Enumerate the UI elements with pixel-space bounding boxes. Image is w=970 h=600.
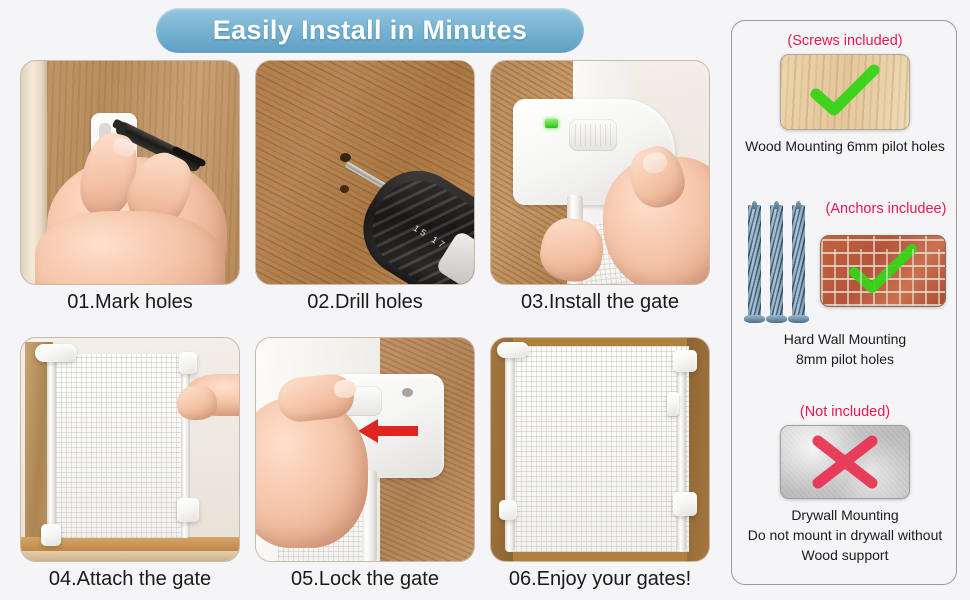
top-housing — [35, 344, 77, 362]
step-photo-attach-gate — [20, 337, 240, 562]
step-caption-06: 06.Enjoy your gates! — [490, 568, 710, 591]
right-gate-pole — [677, 356, 686, 552]
wood-surface-swatch — [780, 54, 910, 130]
left-gate-pole — [505, 346, 515, 552]
bottom-bracket-left — [41, 524, 61, 546]
latch-tab — [667, 392, 679, 416]
step-photo-lock-gate — [255, 337, 475, 562]
bracket-bottom-left — [499, 500, 517, 520]
step-card-03: 03.Install the gate — [490, 60, 710, 314]
gate-mesh-panel — [511, 346, 689, 552]
bracket-top-right — [673, 350, 697, 372]
install-steps-grid: 01.Mark holes 15 17 19 02.Drill holes — [20, 60, 720, 590]
thumbnail — [334, 380, 356, 398]
screw-2 — [770, 205, 783, 317]
drywall-surface-swatch — [780, 425, 910, 499]
drywall-caption-line-3: Wood support — [732, 546, 958, 565]
screws-illustration — [746, 205, 812, 323]
step-photo-install-gate — [490, 60, 710, 285]
green-check-icon — [846, 244, 920, 298]
red-cross-icon — [810, 435, 880, 489]
step-photo-drill-holes: 15 17 19 — [255, 60, 475, 285]
not-included-note: (Not included) — [732, 404, 958, 420]
mounting-options-panel: (Screws included) Wood Mounting 6mm pilo… — [731, 20, 957, 585]
hardwall-mounting-caption-line-2: 8mm pilot holes — [732, 350, 958, 369]
step-card-02: 15 17 19 02.Drill holes — [255, 60, 475, 314]
gate-mesh-panel — [51, 354, 187, 538]
step-caption-01: 01.Mark holes — [20, 291, 240, 314]
wood-mounting-caption: Wood Mounting 6mm pilot holes — [732, 137, 958, 156]
right-bracket-bottom — [177, 498, 199, 522]
mounting-option-wood: (Screws included) Wood Mounting 6mm pilo… — [732, 33, 958, 156]
mounting-option-drywall: (Not included) Drywall Mounting Do not m… — [732, 404, 958, 565]
drywall-caption-line-2: Do not mount in drywall without — [732, 526, 958, 545]
step-caption-05: 05.Lock the gate — [255, 568, 475, 591]
step-card-04: 04.Attach the gate — [20, 337, 240, 591]
screw-1 — [748, 205, 761, 317]
step-caption-02: 02.Drill holes — [255, 291, 475, 314]
bracket-bottom-right — [673, 492, 697, 516]
drywall-caption-line-1: Drywall Mounting — [732, 506, 958, 525]
right-bracket-top — [179, 352, 197, 374]
status-indicator-led — [545, 119, 558, 128]
wood-included-note: (Screws included) — [732, 33, 958, 49]
page-title-banner: Easily Install in Minutes — [156, 8, 584, 53]
step-photo-finished-gate — [490, 337, 710, 562]
top-housing — [497, 342, 529, 358]
screw-3 — [792, 205, 805, 317]
step-caption-03: 03.Install the gate — [490, 291, 710, 314]
pilot-hole-lower — [340, 185, 349, 193]
step-card-05: 05.Lock the gate — [255, 337, 475, 591]
left-gate-pole — [47, 352, 56, 542]
latch-screw-hole — [402, 388, 413, 397]
green-check-icon — [808, 64, 882, 120]
mounting-option-hardwall: (Anchors includee) Hard Wall Mounting 8m… — [732, 199, 958, 369]
hardwall-mounting-caption-line-1: Hard Wall Mounting — [732, 330, 958, 349]
button-ribs — [575, 124, 611, 146]
pilot-hole-upper — [340, 153, 351, 162]
step-card-06: 06.Enjoy your gates! — [490, 337, 710, 591]
step-caption-04: 04.Attach the gate — [20, 568, 240, 591]
floor — [21, 551, 239, 561]
direction-arrow-icon — [356, 416, 420, 446]
brick-surface-swatch — [820, 235, 946, 307]
anchors-included-note: (Anchors includee) — [816, 201, 956, 217]
page-title: Easily Install in Minutes — [213, 15, 528, 46]
step-card-01: 01.Mark holes — [20, 60, 240, 314]
step-photo-mark-holes — [20, 60, 240, 285]
